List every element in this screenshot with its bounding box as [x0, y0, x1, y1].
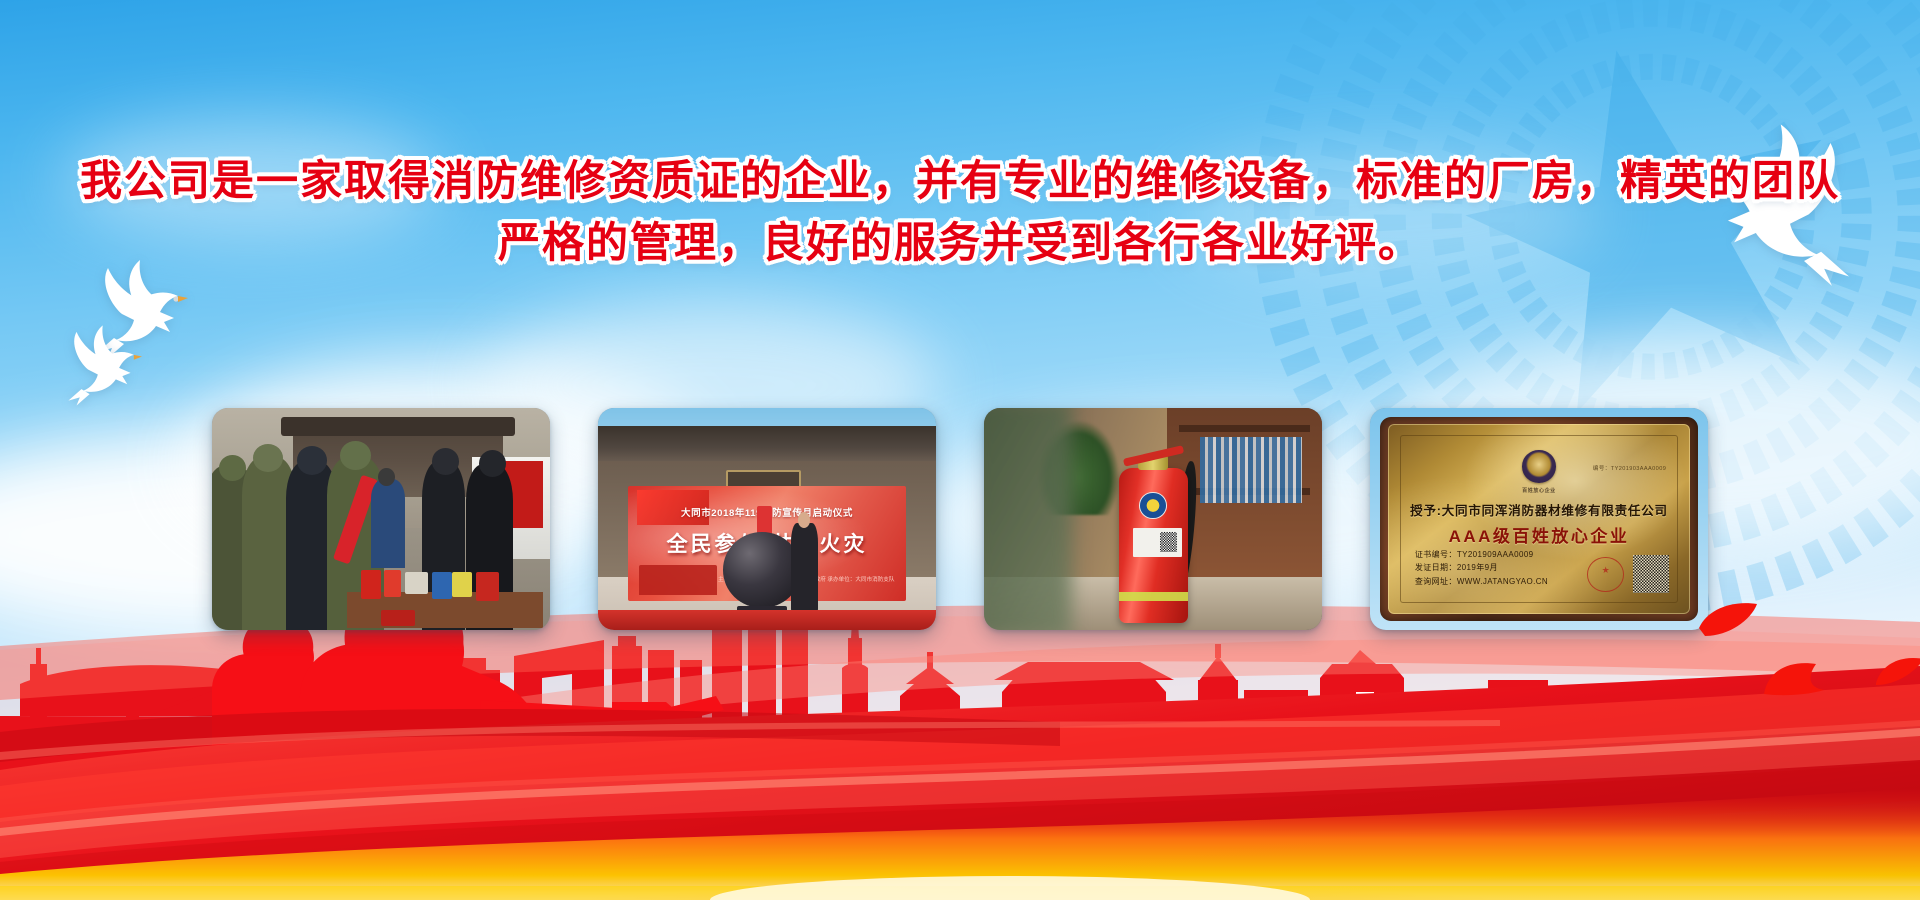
- cloud: [60, 120, 440, 240]
- plaque-qr-code-icon: [1633, 555, 1669, 593]
- dove-right-icon: [1672, 118, 1877, 286]
- plaque-award-title: AAA级百姓放心企业: [1388, 522, 1691, 547]
- plaque-issue-date: 2019年9月: [1457, 563, 1498, 572]
- plaque-emblem-icon: [1522, 450, 1555, 482]
- photo-gallery: 大同市2018年119消防宣传月启动仪式 全民参与 共防火灾 主办单位：大同市人…: [0, 408, 1920, 630]
- plaque-cert-no: TY201909AAA0009: [1457, 550, 1534, 559]
- plaque-site-label: 查询网址：: [1415, 577, 1457, 586]
- plaque-issue-label: 发证日期：: [1415, 563, 1457, 572]
- photo-fire-extinguisher[interactable]: [984, 408, 1322, 630]
- cloud: [1180, 150, 1600, 280]
- dove-left-lower-icon: [52, 318, 160, 408]
- photo-aaa-plaque[interactable]: 百姓放心企业 编号：TY201903AAA0009 授予:大同市同浑消防器材维修…: [1370, 408, 1708, 630]
- plaque-serial-top: 编号：TY201903AAA0009: [1593, 464, 1666, 472]
- promo-banner: 我公司是一家取得消防维修资质证的企业，并有专业的维修设备，标准的厂房，精英的团队…: [0, 0, 1920, 900]
- petal-icon: [1760, 660, 1830, 696]
- plaque-grant-line: 授予:大同市同浑消防器材维修有限责任公司: [1388, 500, 1691, 519]
- plaque-emblem-caption: 百姓放心企业: [1504, 487, 1574, 494]
- plaque-cert-label: 证书编号：: [1415, 550, 1457, 559]
- petal-icon: [1697, 598, 1763, 638]
- plaque-red-seal-icon: [1587, 557, 1623, 591]
- petal-icon: [1874, 655, 1920, 687]
- plaque-site: WWW.JATANGYAO.CN: [1457, 577, 1548, 586]
- plaque-meta: 证书编号：TY201909AAA0009 发证日期：2019年9月 查询网址：W…: [1415, 548, 1548, 589]
- photo-119-ceremony[interactable]: 大同市2018年119消防宣传月启动仪式 全民参与 共防火灾 主办单位：大同市人…: [598, 408, 936, 630]
- photo-officials-inspection[interactable]: [212, 408, 550, 630]
